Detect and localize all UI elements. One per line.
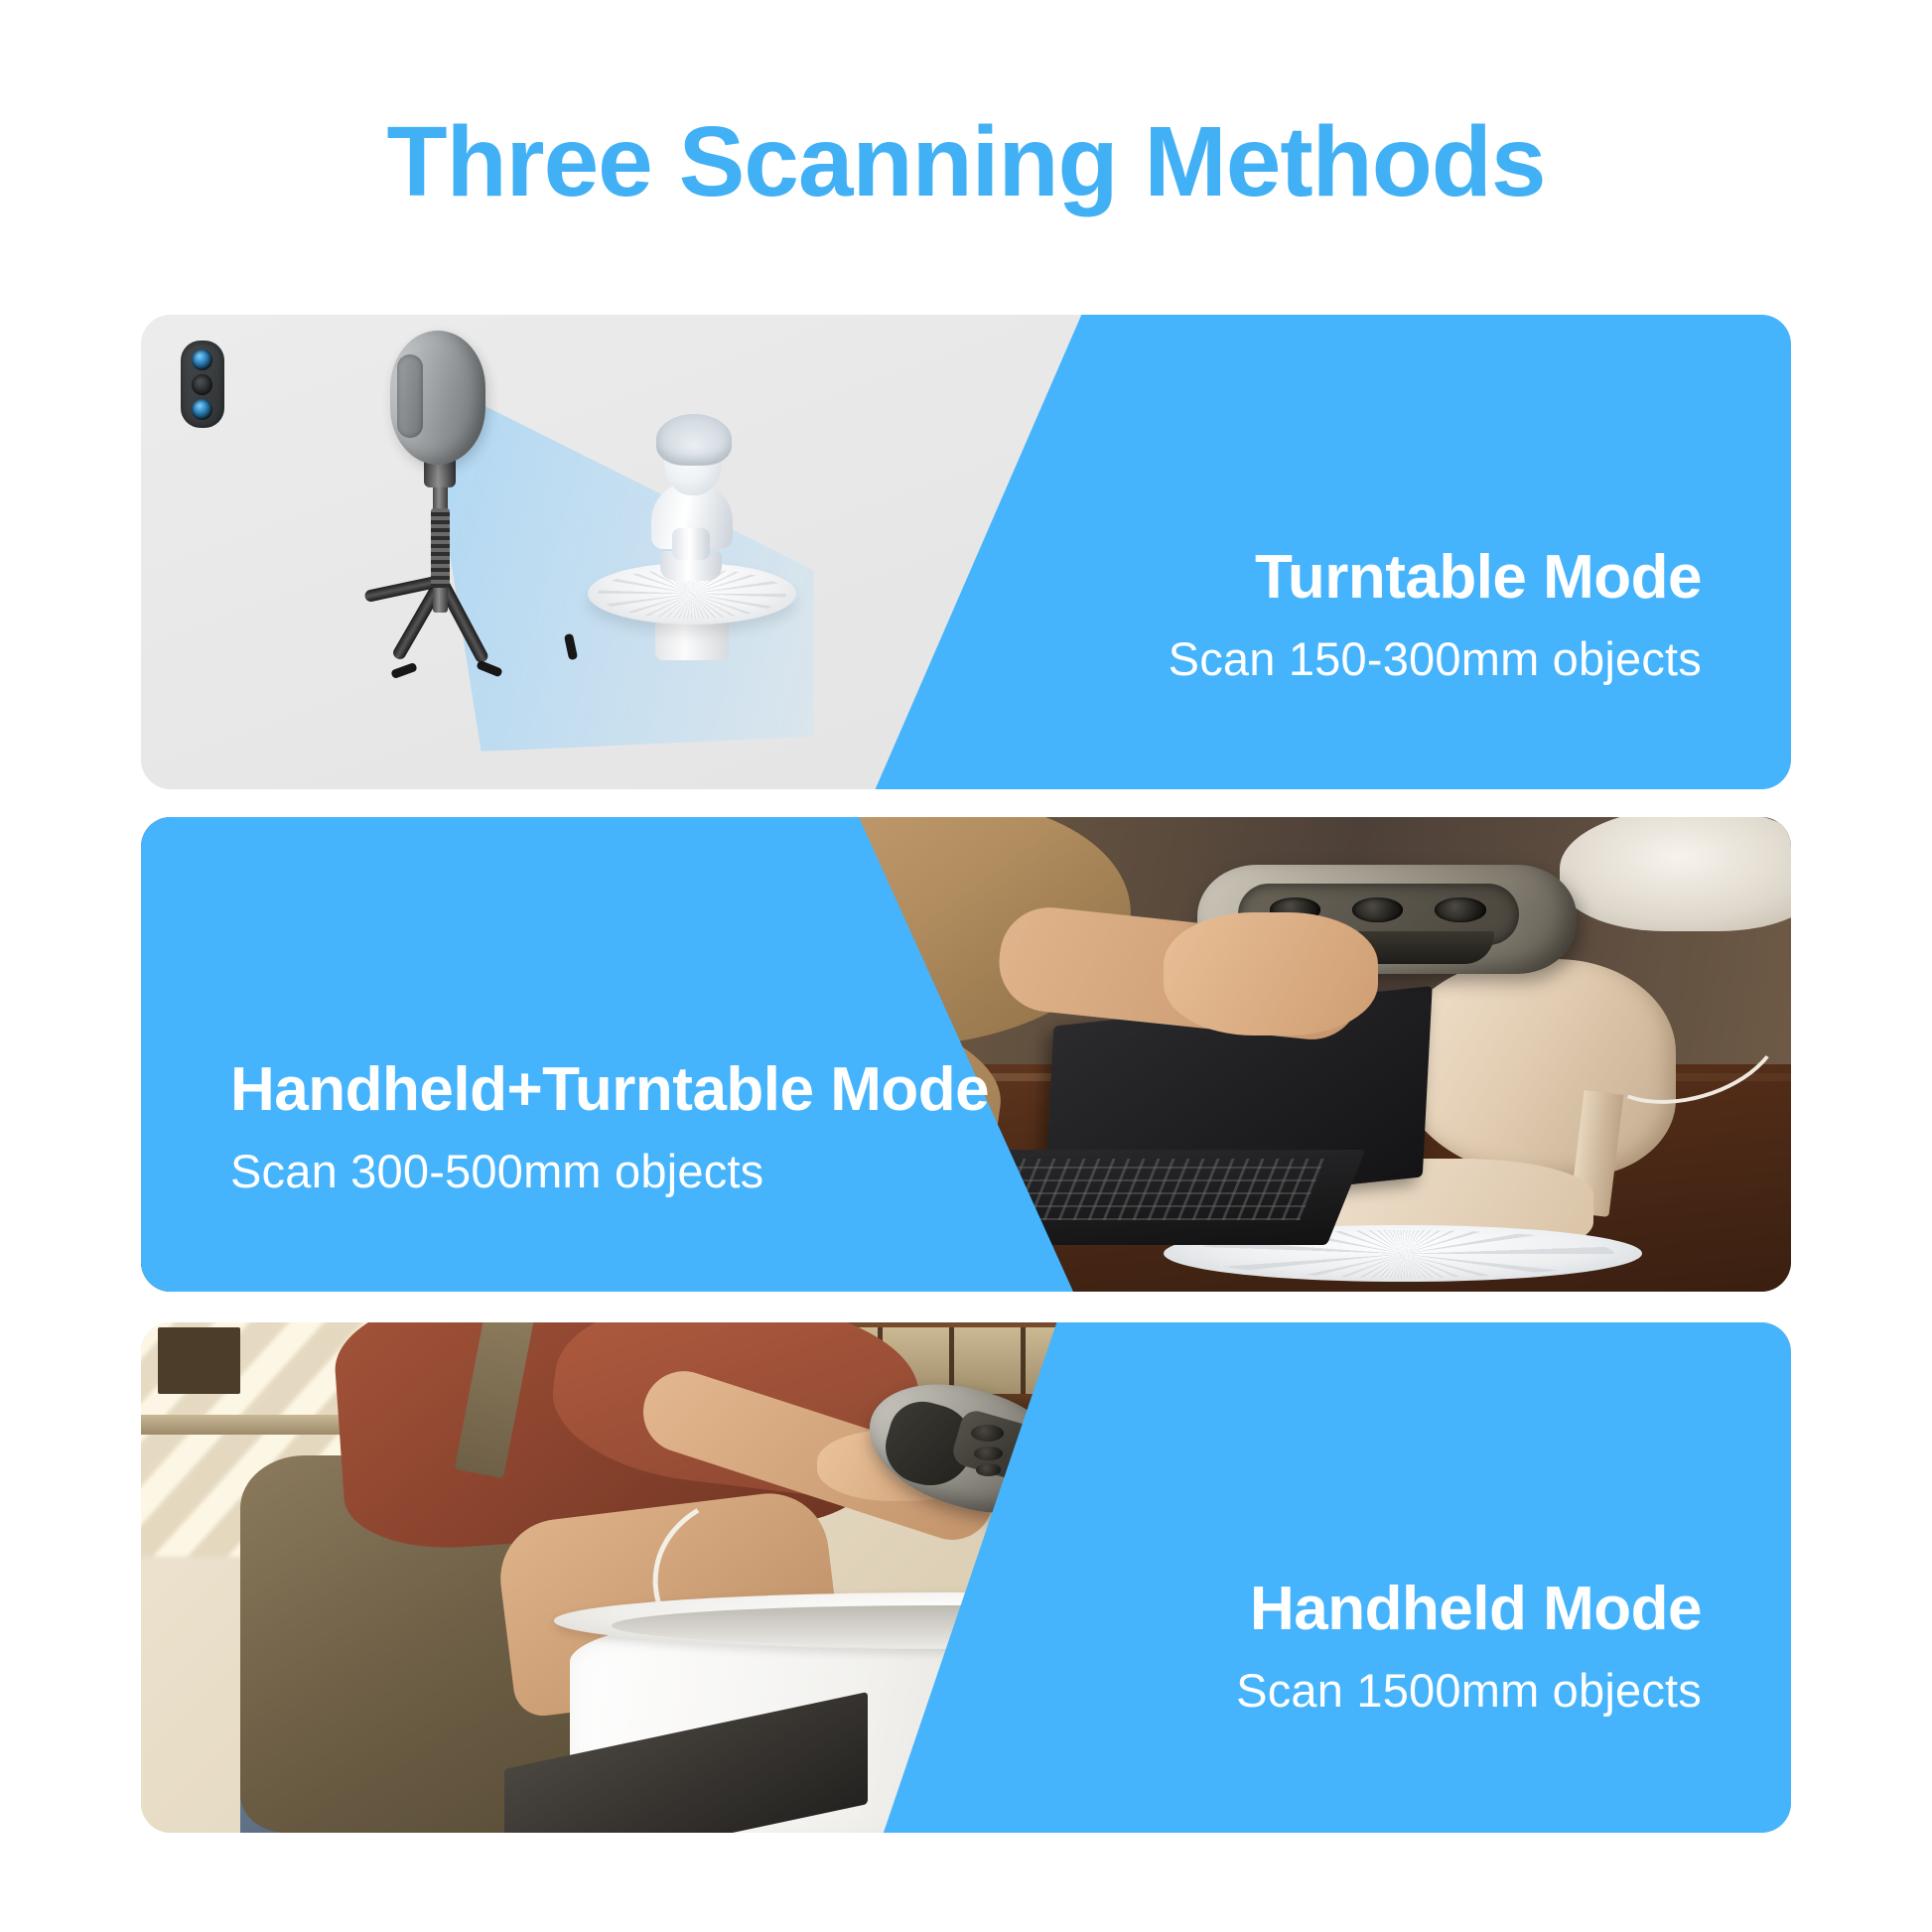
scanner-device <box>390 331 485 465</box>
background-bust <box>1560 817 1791 931</box>
card-caption: Turntable Mode Scan 150-300mm objects <box>1169 541 1702 687</box>
person-hand-on-scanner <box>1164 912 1378 1035</box>
scanner-lens-icon <box>971 1425 1004 1442</box>
tripod-foot-icon <box>390 662 418 679</box>
scanning-mode-card-handheld-turntable[interactable]: Handheld+Turntable Mode Scan 300-500mm o… <box>141 817 1791 1292</box>
scanner-lens-icon <box>974 1447 1002 1460</box>
mode-title: Turntable Mode <box>1169 541 1702 614</box>
scanner-lens-icon <box>1352 897 1404 921</box>
scanning-mode-card-handheld[interactable]: Handheld Mode Scan 1500mm objects <box>141 1322 1791 1833</box>
wall-frame <box>158 1327 240 1394</box>
scanner-lens-icon <box>192 399 212 420</box>
card-caption: Handheld Mode Scan 1500mm objects <box>1236 1573 1702 1719</box>
tripod-pole-grip <box>431 508 450 588</box>
mode-subtitle: Scan 300-500mm objects <box>230 1144 989 1198</box>
scanner-lens-icon <box>192 374 212 395</box>
scanner-lens-icon <box>1435 897 1486 921</box>
bust-neck <box>672 528 710 560</box>
mode-title: Handheld Mode <box>1236 1573 1702 1645</box>
infographic-page: Three Scanning Methods <box>0 0 1932 1932</box>
scanner-lens-icon <box>192 349 212 370</box>
page-title: Three Scanning Methods <box>0 107 1932 216</box>
mode-subtitle: Scan 1500mm objects <box>1236 1663 1702 1718</box>
mode-subtitle: Scan 150-300mm objects <box>1169 631 1702 686</box>
card-caption: Handheld+Turntable Mode Scan 300-500mm o… <box>230 1053 989 1199</box>
bust-hair <box>656 414 732 466</box>
scanner-lens-icon <box>976 1463 1001 1475</box>
scanning-mode-card-turntable[interactable]: Turntable Mode Scan 150-300mm objects <box>141 315 1791 789</box>
mode-title: Handheld+Turntable Mode <box>230 1053 989 1126</box>
